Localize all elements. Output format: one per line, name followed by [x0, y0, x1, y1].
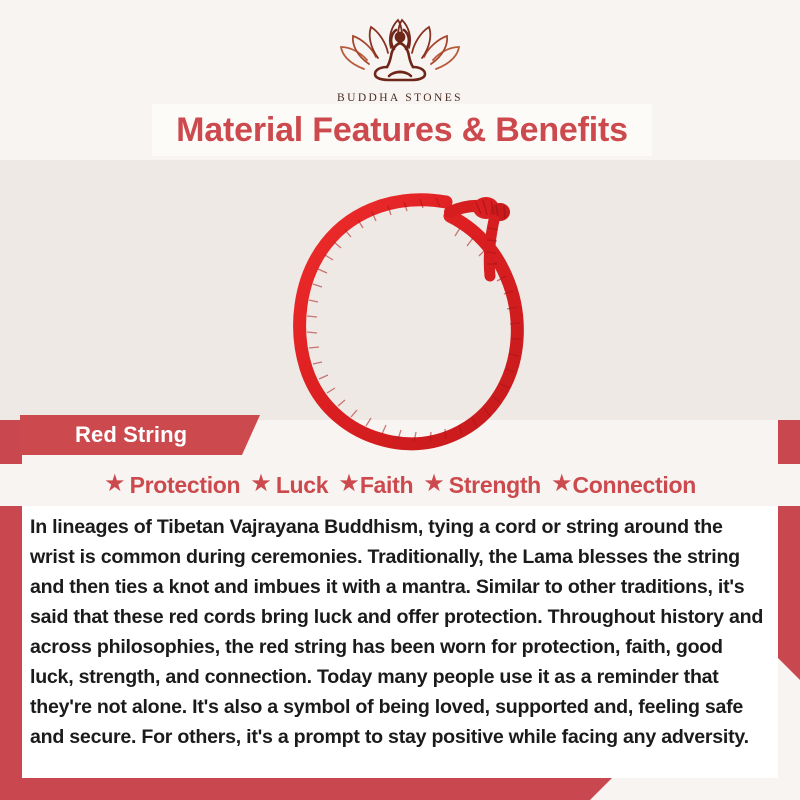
star-icon: ★: [250, 472, 272, 496]
benefit-item-faith: ★ Faith: [338, 472, 413, 499]
benefit-item-strength: ★ Strength: [423, 472, 541, 499]
product-photo-band: [0, 160, 800, 420]
material-label: Red String: [20, 422, 187, 448]
star-icon: ★: [104, 472, 126, 496]
material-label-ribbon: Red String: [20, 415, 260, 455]
benefit-item-luck: ★ Luck: [250, 472, 328, 499]
brand-name: BUDDHA STONES: [0, 92, 800, 104]
star-icon: ★: [423, 472, 445, 496]
title-plaque: Material Features & Benefits: [152, 104, 652, 156]
benefit-item-protection: ★ Protection: [104, 472, 240, 499]
brand-logo: BUDDHA STONES: [0, 14, 800, 104]
page-title: Material Features & Benefits: [176, 111, 628, 150]
product-image-red-string-bracelet: [250, 172, 560, 472]
star-icon: ★: [551, 472, 573, 496]
benefit-item-connection: ★ Connection: [551, 472, 696, 499]
star-icon: ★: [338, 472, 360, 496]
benefit-label: Faith: [360, 472, 413, 499]
description-text: In lineages of Tibetan Vajrayana Buddhis…: [30, 512, 766, 752]
benefits-row: ★ Protection ★ Luck ★ Faith ★ Strength ★…: [0, 464, 800, 506]
benefit-label: Luck: [276, 472, 328, 499]
decorative-bottom-bar: [0, 778, 612, 800]
benefit-label: Protection: [130, 472, 241, 499]
benefit-label: Strength: [449, 472, 541, 499]
benefit-label: Connection: [572, 472, 696, 499]
description-panel: In lineages of Tibetan Vajrayana Buddhis…: [22, 506, 778, 778]
infographic-page: BUDDHA STONES Material Features & Benefi…: [0, 0, 800, 800]
lotus-meditation-icon: [0, 14, 800, 91]
